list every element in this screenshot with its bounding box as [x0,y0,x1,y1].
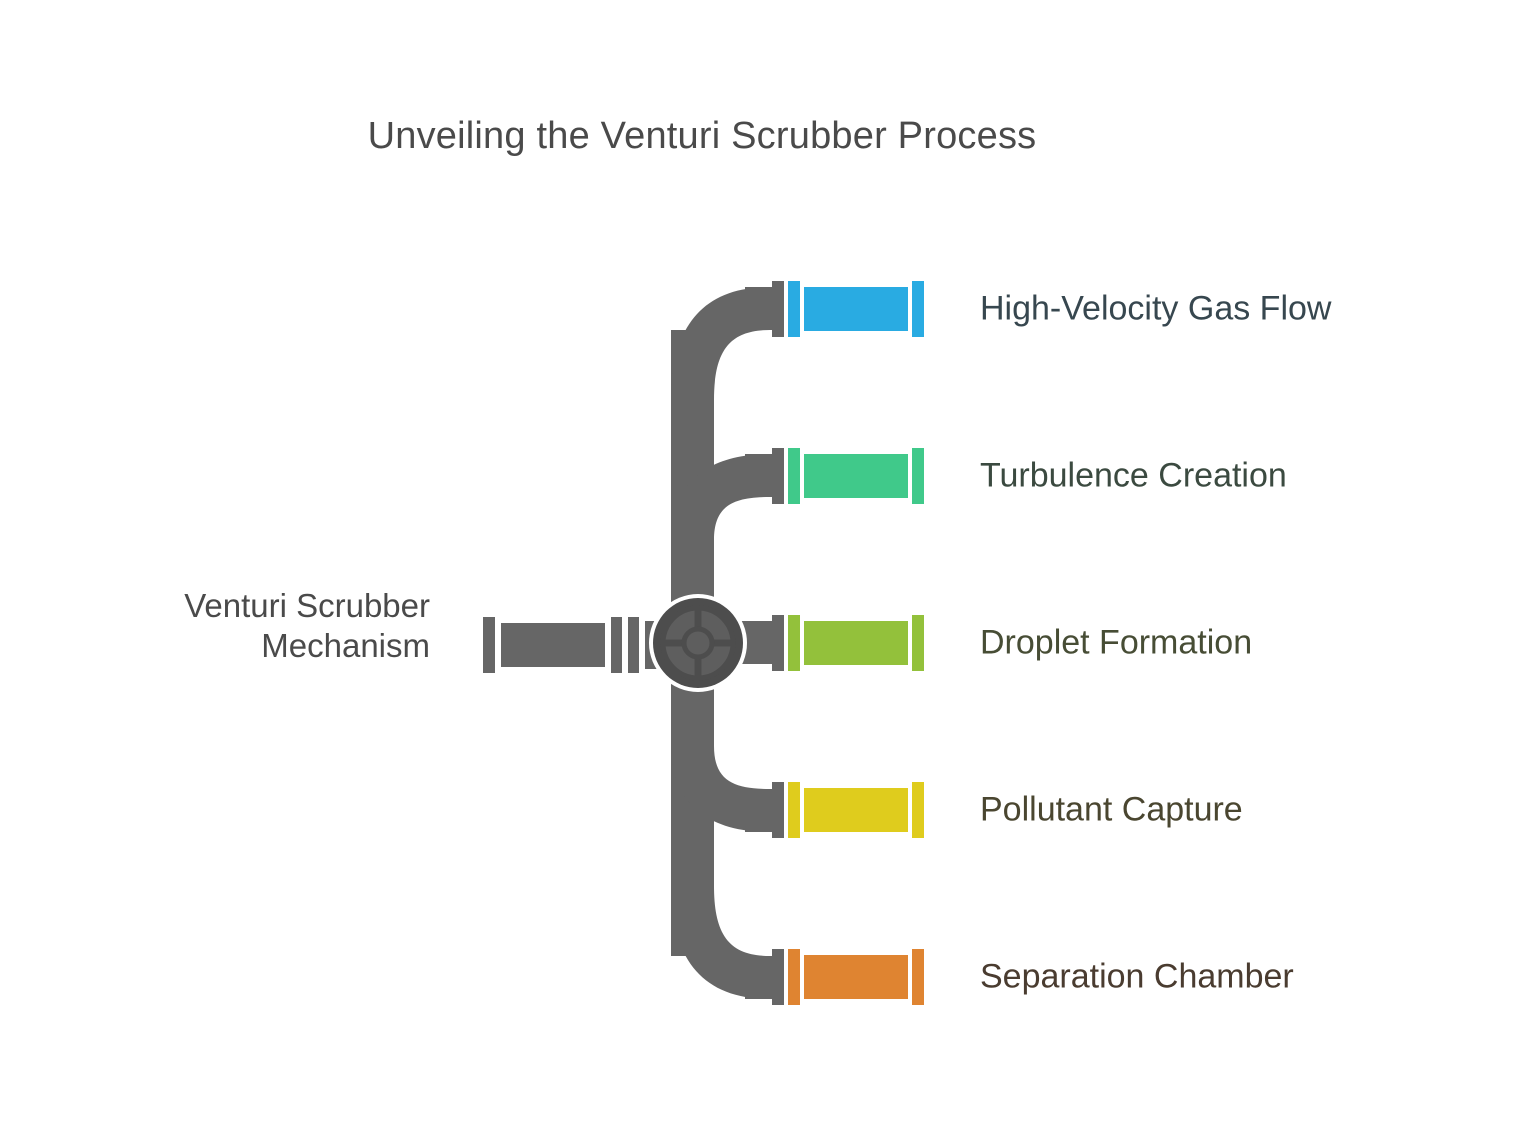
pipe-spool-1[interactable] [772,281,924,337]
branch-label-1: High-Velocity Gas Flow [980,290,1331,329]
pipe-color-flange-left-2 [788,448,800,504]
branch-arm-2-stub [745,454,775,497]
inlet-pipe-group [483,617,671,673]
pipe-spool-3[interactable] [772,615,924,671]
inlet-flange-b [628,617,639,673]
pipe-color-body-1 [804,287,908,331]
pipe-gray-flange-3 [772,615,784,671]
branch-label-4: Pollutant Capture [980,791,1243,830]
pipe-gray-flange-1 [772,281,784,337]
pipe-color-flange-right-5 [912,949,924,1005]
pipe-color-body-3 [804,621,908,665]
inlet-end-flange [483,617,495,673]
inlet-body [501,623,605,667]
pipe-color-body-2 [804,454,908,498]
pipe-color-flange-left-5 [788,949,800,1005]
pipe-color-flange-left-1 [788,281,800,337]
root-label-line-2: Mechanism [30,626,430,666]
branch-arm-1-stub [745,287,775,330]
plumbing-graphic [0,0,1536,1125]
branch-label-5: Separation Chamber [980,958,1294,997]
pipe-color-flange-right-1 [912,281,924,337]
pipe-gray-flange-5 [772,949,784,1005]
pipe-color-body-5 [804,955,908,999]
root-node-label: Venturi Scrubber Mechanism [30,586,430,667]
pipe-color-flange-right-2 [912,448,924,504]
valve-wheel-icon [649,594,747,692]
pipe-color-flange-left-3 [788,615,800,671]
branch-label-2: Turbulence Creation [980,457,1287,496]
branch-arm-5-stub [745,956,775,999]
pipe-color-flange-right-4 [912,782,924,838]
branch-arm-4-stub [745,789,775,832]
valve-center-hub [684,629,712,657]
pipe-spool-4[interactable] [772,782,924,838]
pipe-spool-2[interactable] [772,448,924,504]
colored-pipes-group [772,281,924,1005]
pipe-spool-5[interactable] [772,949,924,1005]
pipe-gray-flange-2 [772,448,784,504]
pipe-color-flange-left-4 [788,782,800,838]
branch-label-3: Droplet Formation [980,624,1252,663]
inlet-flange-a [611,617,622,673]
root-label-line-1: Venturi Scrubber [30,586,430,626]
diagram-canvas: Unveiling the Venturi Scrubber Process [0,0,1536,1125]
pipe-color-flange-right-3 [912,615,924,671]
pipe-color-body-4 [804,788,908,832]
pipe-gray-flange-4 [772,782,784,838]
